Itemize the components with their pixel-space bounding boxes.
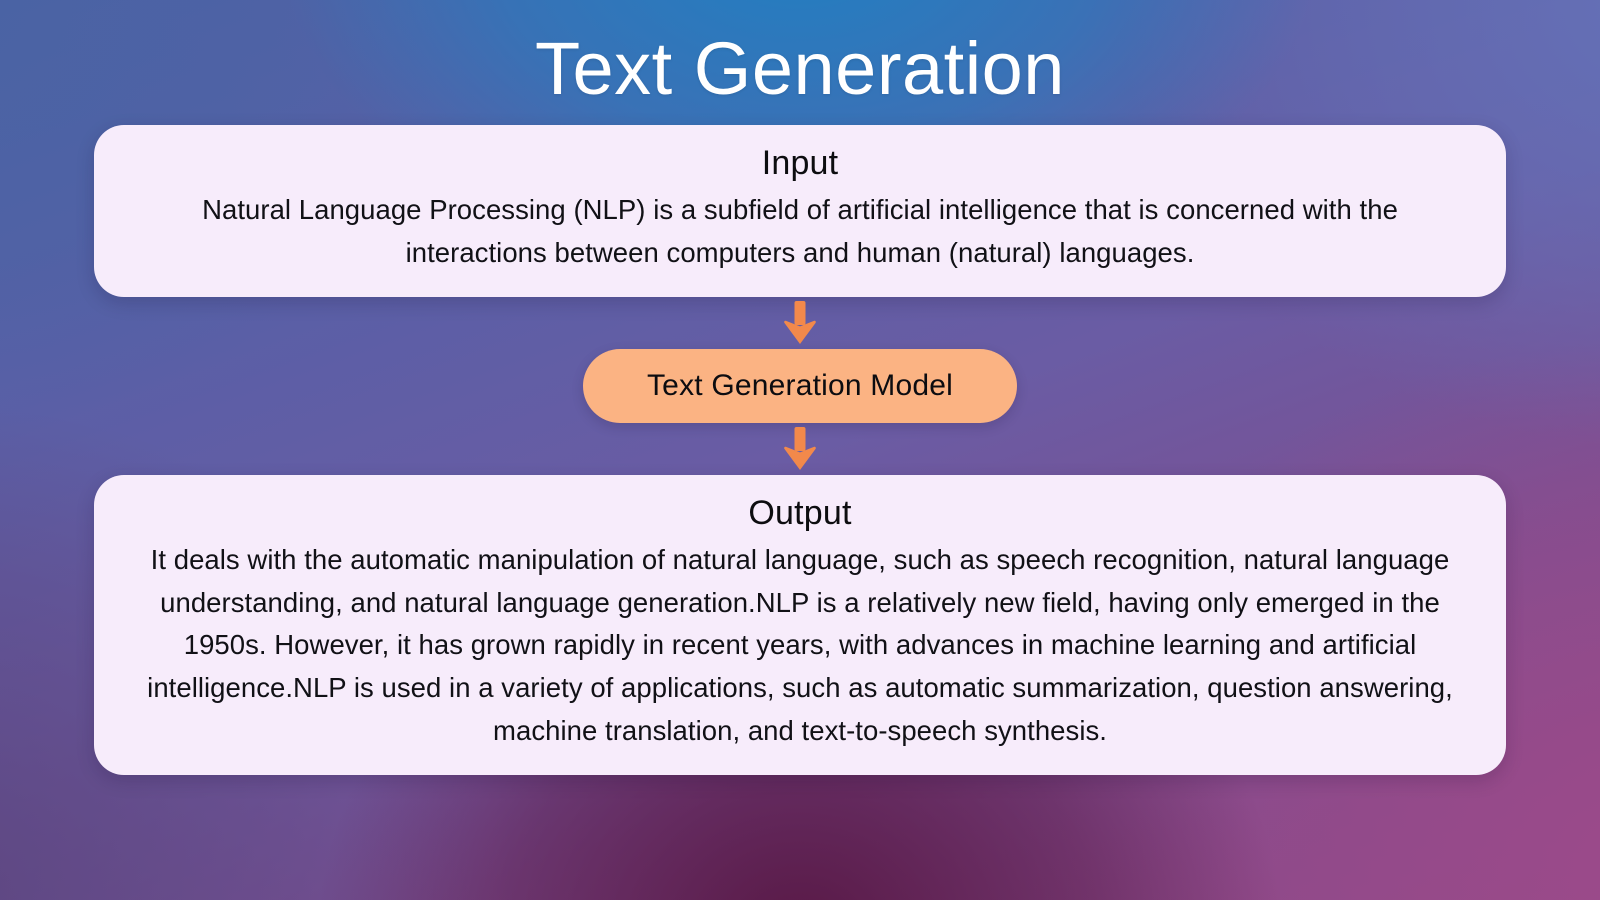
text-generation-model-pill[interactable]: Text Generation Model <box>583 349 1017 423</box>
input-card-text: Natural Language Processing (NLP) is a s… <box>136 189 1464 275</box>
output-card: Output It deals with the automatic manip… <box>94 475 1506 775</box>
down-arrow-icon <box>783 301 817 345</box>
output-card-heading: Output <box>136 491 1464 537</box>
input-card-heading: Input <box>136 141 1464 187</box>
page-title: Text Generation <box>535 26 1065 111</box>
flow-section: Text Generation Model <box>583 297 1017 475</box>
page-frame: Text Generation Input Natural Language P… <box>0 0 1600 900</box>
input-card: Input Natural Language Processing (NLP) … <box>94 125 1506 297</box>
down-arrow-icon <box>783 427 817 471</box>
output-card-text: It deals with the automatic manipulation… <box>136 539 1464 753</box>
